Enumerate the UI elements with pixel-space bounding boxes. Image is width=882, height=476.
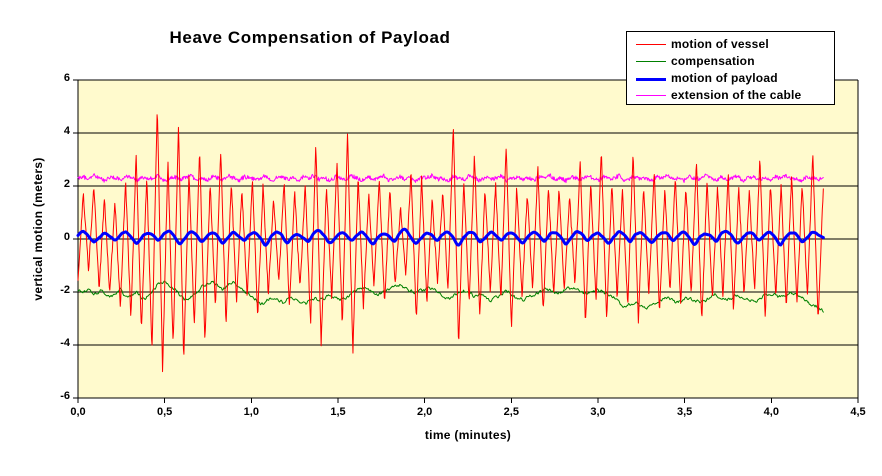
legend-label: motion of payload	[671, 69, 778, 87]
x-tick-label: 1,5	[318, 406, 358, 418]
x-tick-label: 0,5	[145, 406, 185, 418]
y-tick-label: 2	[36, 178, 70, 190]
x-tick-label: 4,0	[751, 406, 791, 418]
legend-color-swatch	[636, 86, 666, 104]
legend-label: compensation	[671, 52, 755, 70]
legend-label: extension of the cable	[671, 86, 801, 104]
legend-color-swatch	[636, 35, 666, 53]
x-tick-label: 3,5	[665, 406, 705, 418]
legend-item[interactable]: motion of payload	[627, 69, 834, 87]
x-tick-label: 0,0	[58, 406, 98, 418]
y-tick-label: 0	[36, 231, 70, 243]
x-tick-label: 4,5	[838, 406, 878, 418]
legend: motion of vesselcompensationmotion of pa…	[626, 31, 835, 105]
x-tick-label: 3,0	[578, 406, 618, 418]
legend-label: motion of vessel	[671, 35, 769, 53]
x-tick-label: 2,0	[405, 406, 445, 418]
x-tick-label: 2,5	[491, 406, 531, 418]
y-tick-label: -2	[36, 284, 70, 296]
chart-container: Heave Compensation of Payload vertical m…	[0, 0, 882, 476]
legend-color-swatch	[636, 52, 666, 70]
legend-item[interactable]: extension of the cable	[627, 86, 834, 104]
x-tick-label: 1,0	[231, 406, 271, 418]
legend-color-swatch	[636, 69, 666, 87]
y-tick-label: -4	[36, 337, 70, 349]
y-tick-label: 6	[36, 72, 70, 84]
legend-item[interactable]: compensation	[627, 52, 834, 70]
legend-item[interactable]: motion of vessel	[627, 35, 834, 53]
y-tick-label: 4	[36, 125, 70, 137]
y-tick-label: -6	[36, 390, 70, 402]
